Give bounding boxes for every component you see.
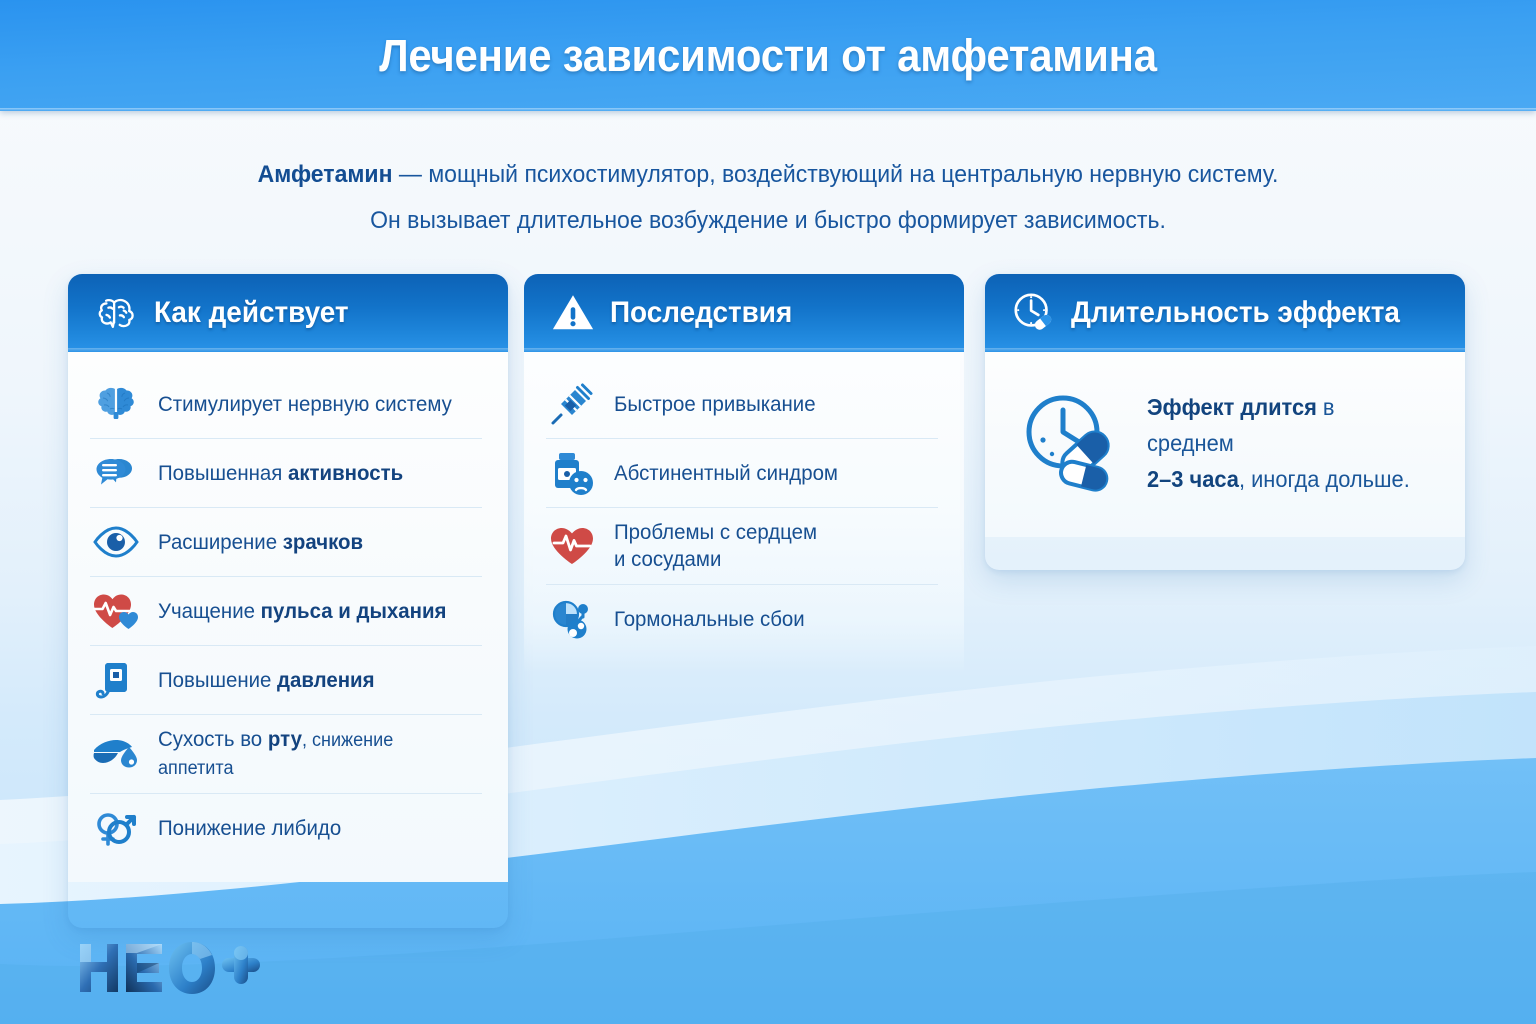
dry-mouth-icon	[90, 731, 142, 777]
clock-pills-icon	[1011, 290, 1057, 336]
list-item-label: Учащение пульса и дыхания	[158, 598, 446, 625]
list-item[interactable]: Проблемы с сердцем и сосудами	[546, 508, 938, 585]
molecule-icon	[546, 596, 598, 642]
list-item[interactable]: Учащение пульса и дыхания	[90, 577, 482, 646]
eye-icon	[90, 519, 142, 565]
warning-triangle-icon	[550, 290, 596, 336]
card-body-duration: Эффект длится в среднем 2–3 часа, иногда…	[985, 352, 1465, 537]
neo-plus-logo	[76, 938, 266, 1005]
list-item-label: Сухость во рту, снижение аппетита	[158, 726, 466, 782]
card-body-consequences: Быстрое привыкание Абстинентный с	[524, 352, 964, 673]
list-item-label: Проблемы с сердцем и сосудами	[614, 519, 817, 573]
header-band: Лечение зависимости от амфетамина	[0, 0, 1536, 111]
intro-text: Амфетамин — мощный психостимулятор, возд…	[46, 152, 1490, 244]
list-item[interactable]: Понижение либидо	[90, 794, 482, 862]
list-item-label: Расширение зрачков	[158, 529, 363, 556]
effect-duration-text: Эффект длится в среднем 2–3 часа, иногда…	[1147, 389, 1421, 497]
page-title: Лечение зависимости от амфетамина	[54, 30, 1482, 82]
brain-outline-icon	[94, 290, 140, 336]
list-item[interactable]: Сухость во рту, снижение аппетита	[90, 715, 482, 794]
clock-capsules-icon	[1019, 388, 1127, 497]
blood-pressure-monitor-icon	[90, 657, 142, 703]
card-title-consequences: Последствия	[610, 296, 792, 330]
list-item[interactable]: Гормональные сбои	[546, 585, 938, 653]
list-item-label: Повышенная активность	[158, 460, 403, 487]
list-item[interactable]: Повышенная активность	[90, 439, 482, 508]
list-item[interactable]: Быстрое привыкание	[546, 370, 938, 439]
card-body-how-it-works: Стимулирует нервную систему Повышенная а	[68, 352, 508, 882]
card-title-duration: Длительность эффекта	[1071, 296, 1400, 330]
card-title-how-it-works: Как действует	[154, 296, 349, 330]
brain-icon	[90, 381, 142, 427]
list-item[interactable]: Стимулирует нервную систему	[90, 370, 482, 439]
pill-bottle-sad-face-icon	[546, 450, 598, 496]
list-item-label: Стимулирует нервную систему	[158, 391, 452, 418]
list-item-label: Гормональные сбои	[614, 606, 805, 633]
intro-line2: Он вызывает длительное возбуждение и быс…	[46, 198, 1490, 244]
list-item-label: Повышение давления	[158, 667, 375, 694]
syringe-icon	[546, 381, 598, 427]
card-how-it-works[interactable]: Как действует Стимули	[68, 274, 508, 928]
card-consequences[interactable]: Последствия	[524, 274, 964, 850]
card-header-how-it-works: Как действует	[68, 274, 508, 352]
card-duration[interactable]: Длительность эффекта	[985, 274, 1465, 570]
list-item[interactable]: Расширение зрачков	[90, 508, 482, 577]
list-item-label: Понижение либидо	[158, 815, 341, 842]
intro-lead-bold: Амфетамин	[258, 161, 393, 188]
effect-duration-block: Эффект длится в среднем 2–3 часа, иногда…	[985, 352, 1465, 537]
list-item-label: Абстинентный синдром	[614, 460, 838, 487]
heart-pulse-icon	[546, 523, 598, 569]
gender-symbols-icon	[90, 805, 142, 851]
list-item[interactable]: Повышение давления	[90, 646, 482, 715]
list-item[interactable]: Абстинентный синдром	[546, 439, 938, 508]
list-item-label: Быстрое привыкание	[614, 391, 816, 418]
card-header-consequences: Последствия	[524, 274, 964, 352]
card-header-duration: Длительность эффекта	[985, 274, 1465, 352]
chat-bubbles-icon	[90, 450, 142, 496]
neo-plus-logo-mark	[76, 938, 266, 1000]
intro-line1-rest: — мощный психостимулятор, воздействующий…	[392, 161, 1278, 188]
heartbeat-icon	[90, 588, 142, 634]
